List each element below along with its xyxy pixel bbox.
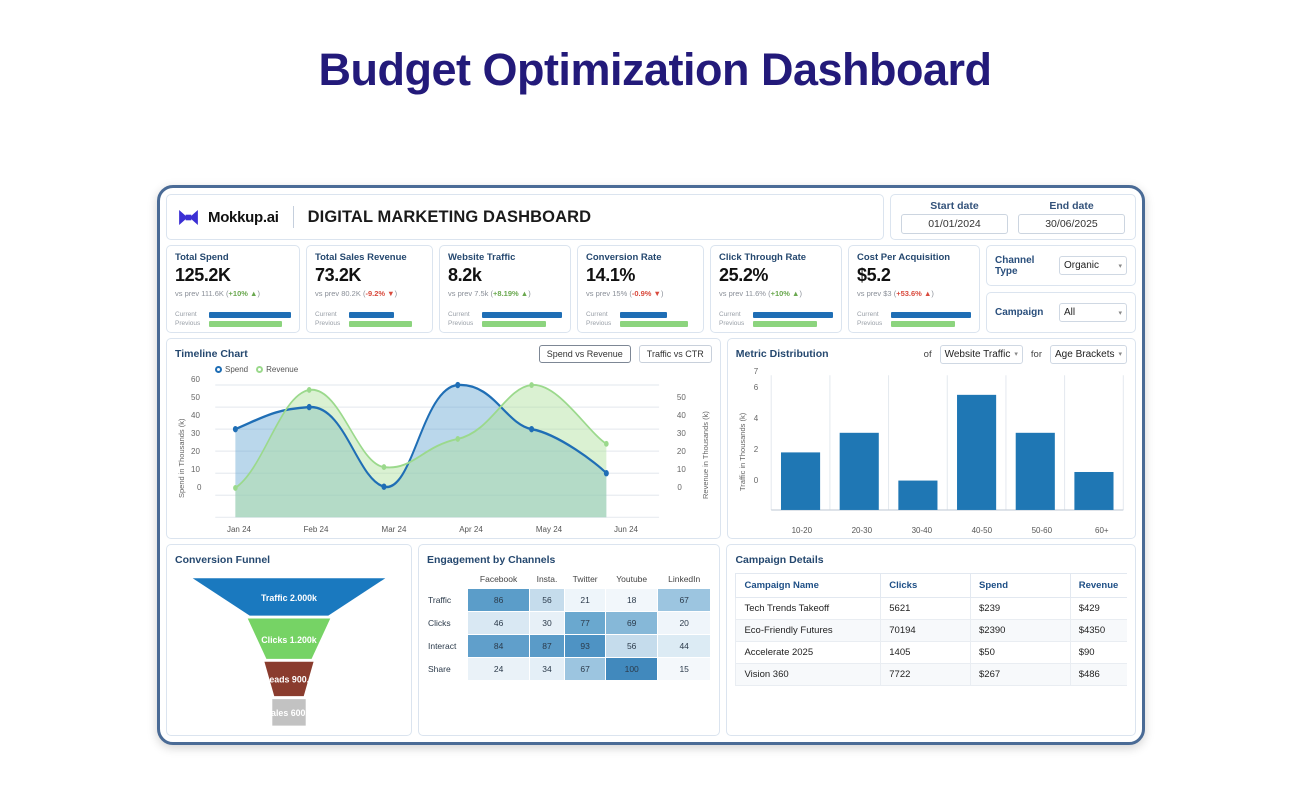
middle-row: Timeline Chart Spend vs Revenue Traffic …	[166, 338, 1136, 539]
heatmap-cell: 100	[606, 658, 657, 681]
engagement-heatmap-title: Engagement by Channels	[427, 554, 555, 566]
heatmap-cell: 67	[657, 589, 711, 612]
dimension-select[interactable]: Age Brackets ▾	[1050, 345, 1127, 364]
funnel-label-clicks: Clicks 1.200k	[261, 635, 317, 645]
heatmap-col-insta: Insta.	[530, 572, 565, 589]
conversion-funnel-panel: Conversion Funnel Traffic 2.000k Clicks …	[166, 544, 412, 736]
table-row[interactable]: Vision 360 7722 $267 $486	[736, 664, 1127, 686]
heatmap-corner	[427, 572, 467, 589]
campaign-table-scroll[interactable]: Campaign Name Clicks Spend Revenue Tech …	[735, 573, 1127, 729]
heatmap-cell: 18	[606, 589, 657, 612]
cell-revenue: $486	[1070, 664, 1127, 686]
column-campaign-name[interactable]: Campaign Name	[736, 574, 881, 598]
cell-revenue: $4350	[1070, 620, 1127, 642]
kpi-prev-text: vs prev 80.2K	[315, 289, 361, 298]
timeline-chart-panel: Timeline Chart Spend vs Revenue Traffic …	[166, 338, 721, 539]
campaign-details-title: Campaign Details	[735, 554, 823, 566]
campaign-select[interactable]: All ▾	[1059, 303, 1127, 322]
kpi-comparison: vs prev 15% (-0.9% ▼)	[586, 289, 695, 298]
y-tick: 50	[191, 393, 200, 402]
kpi-comparison: vs prev 7.5k (+8.19% ▲)	[448, 289, 562, 298]
kpi-current-label: Current	[448, 311, 478, 318]
heatmap-cell: 84	[467, 635, 529, 658]
kpi-prev-text: vs prev 111.6K	[175, 289, 224, 298]
kpi-card-total-spend: Total Spend 125.2K vs prev 111.6K (+10% …	[166, 245, 300, 333]
kpi-comparison: vs prev 80.2K (-9.2% ▼)	[315, 289, 424, 298]
filter-campaign: Campaign All ▾	[986, 292, 1136, 333]
y-tick: 0	[197, 483, 201, 492]
metric-distribution-title: Metric Distribution	[736, 348, 829, 360]
kpi-previous-bar	[620, 321, 688, 327]
x-tick: 50-60	[1022, 526, 1062, 535]
kpi-bars: Current Previous	[315, 309, 424, 327]
bottom-row: Conversion Funnel Traffic 2.000k Clicks …	[166, 544, 1136, 736]
y2-tick: 20	[677, 447, 686, 456]
start-date-field: Start date 01/01/2024	[901, 200, 1008, 234]
chevron-down-icon: ▾	[1118, 262, 1122, 270]
x-tick: 20-30	[842, 526, 882, 535]
cell-clicks: 5621	[881, 598, 971, 620]
filter-label: Channel Type	[995, 255, 1053, 277]
conversion-funnel-title: Conversion Funnel	[175, 554, 270, 566]
metric-distribution-panel: Metric Distribution of Website Traffic ▾…	[727, 338, 1136, 539]
page-title: Budget Optimization Dashboard	[0, 44, 1310, 96]
timeline-chart-title: Timeline Chart	[175, 348, 248, 360]
metric-select-value: Website Traffic	[945, 349, 1011, 360]
heatmap-row-label: Interact	[427, 635, 467, 658]
toggle-traffic-vs-ctr[interactable]: Traffic vs CTR	[639, 345, 712, 363]
kpi-current-label: Current	[315, 311, 345, 318]
table-row[interactable]: Eco-Friendly Futures 70194 $2390 $4350	[736, 620, 1127, 642]
dashboard-header: Mokkup.ai DIGITAL MARKETING DASHBOARD St…	[166, 194, 1136, 240]
kpi-value: $5.2	[857, 265, 971, 286]
heatmap-cell: 34	[530, 658, 565, 681]
kpi-comparison: vs prev 111.6K (+10% ▲)	[175, 289, 291, 298]
timeline-chart-area: Spend Revenue Spend in Thousands (k) Rev…	[175, 363, 712, 532]
y2-tick: 30	[677, 429, 686, 438]
kpi-prev-text: vs prev 11.6%	[719, 289, 766, 298]
x-tick: Jun 24	[602, 525, 650, 534]
heatmap-cell: 56	[606, 635, 657, 658]
heatmap-col-facebook: Facebook	[467, 572, 529, 589]
dashboard-frame: Mokkup.ai DIGITAL MARKETING DASHBOARD St…	[157, 185, 1145, 745]
kpi-current-label: Current	[586, 311, 616, 318]
heatmap-cell: 44	[657, 635, 711, 658]
cell-spend: $267	[971, 664, 1071, 686]
kpi-delta: -9.2%	[365, 289, 385, 298]
heatmap-row: Share 24 34 67 100 15	[427, 658, 710, 681]
x-tick: May 24	[525, 525, 573, 534]
y-tick: 4	[754, 414, 758, 423]
x-tick: 10-20	[782, 526, 822, 535]
x-tick: Jan 24	[215, 525, 263, 534]
kpi-previous-label: Previous	[857, 320, 887, 327]
brand-name: Mokkup.ai	[208, 209, 279, 226]
kpi-current-label: Current	[857, 311, 887, 318]
cell-clicks: 1405	[881, 642, 971, 664]
heatmap-row: Clicks 46 30 77 69 20	[427, 612, 710, 635]
kpi-bars: Current Previous	[448, 309, 562, 327]
heatmap-cell: 86	[467, 589, 529, 612]
heatmap-col-twitter: Twitter	[564, 572, 606, 589]
kpi-previous-bar	[753, 321, 817, 327]
y2-tick: 40	[677, 411, 686, 420]
kpi-current-bar	[482, 312, 562, 318]
kpi-previous-label: Previous	[586, 320, 616, 327]
kpi-current-bar	[620, 312, 667, 318]
kpi-previous-bar	[482, 321, 546, 327]
cell-campaign-name: Eco-Friendly Futures	[736, 620, 881, 642]
cell-spend: $239	[971, 598, 1071, 620]
heatmap-cell: 77	[564, 612, 606, 635]
y-tick: 30	[191, 429, 200, 438]
dashboard-title: DIGITAL MARKETING DASHBOARD	[308, 208, 592, 227]
chevron-down-icon: ▾	[1118, 309, 1122, 317]
kpi-delta: +53.6%	[896, 289, 922, 298]
cell-campaign-name: Accelerate 2025	[736, 642, 881, 664]
engagement-heatmap-table: Facebook Insta. Twitter Youtube LinkedIn…	[427, 572, 711, 681]
filter-channel-type: Channel Type Organic ▾	[986, 245, 1136, 286]
metric-distribution-svg	[736, 363, 1127, 532]
engagement-heatmap-panel: Engagement by Channels Facebook Insta. T…	[418, 544, 720, 736]
kpi-card-conversion-rate: Conversion Rate 14.1% vs prev 15% (-0.9%…	[577, 245, 704, 333]
heatmap-cell: 69	[606, 612, 657, 635]
y-tick: 60	[191, 375, 200, 384]
heatmap-cell: 67	[564, 658, 606, 681]
toggle-spend-vs-revenue[interactable]: Spend vs Revenue	[539, 345, 631, 363]
kpi-title: Total Sales Revenue	[315, 252, 424, 263]
column-spend[interactable]: Spend	[971, 574, 1071, 598]
timeline-svg	[175, 363, 712, 532]
kpi-previous-label: Previous	[448, 320, 478, 327]
funnel-svg: Traffic 2.000k Clicks 1.200k Leads 900.0…	[175, 571, 403, 729]
channel-type-select[interactable]: Organic ▾	[1059, 256, 1127, 275]
date-range-card: Start date 01/01/2024 End date 30/06/202…	[890, 194, 1136, 240]
header-divider	[293, 206, 294, 228]
metric-distribution-chart-area: Traffic in Thousands (k)	[736, 363, 1127, 532]
heatmap-col-youtube: Youtube	[606, 572, 657, 589]
heatmap-cell: 93	[564, 635, 606, 658]
heatmap-header-row: Facebook Insta. Twitter Youtube LinkedIn	[427, 572, 710, 589]
connector-of: of	[924, 349, 932, 360]
kpi-card-cost-per-acquisition: Cost Per Acquisition $5.2 vs prev $3 (+5…	[848, 245, 980, 333]
x-tick: 30-40	[902, 526, 942, 535]
cell-spend: $2390	[971, 620, 1071, 642]
y-tick: 40	[191, 411, 200, 420]
y2-tick: 50	[677, 393, 686, 402]
kpi-prev-text: vs prev 7.5k	[448, 289, 488, 298]
kpi-bars: Current Previous	[175, 309, 291, 327]
start-date-input[interactable]: 01/01/2024	[901, 214, 1008, 234]
x-tick: 40-50	[962, 526, 1002, 535]
kpi-value: 125.2K	[175, 265, 291, 286]
heatmap-cell: 30	[530, 612, 565, 635]
cell-campaign-name: Vision 360	[736, 664, 881, 686]
kpi-current-bar	[209, 312, 291, 318]
mokkup-logo-icon	[179, 210, 198, 225]
y-tick: 20	[191, 447, 200, 456]
heatmap-cell: 15	[657, 658, 711, 681]
kpi-bars: Current Previous	[586, 309, 695, 327]
kpi-card-website-traffic: Website Traffic 8.2k vs prev 7.5k (+8.19…	[439, 245, 571, 333]
y-tick: 6	[754, 383, 758, 392]
kpi-value: 73.2K	[315, 265, 424, 286]
kpi-current-label: Current	[719, 311, 749, 318]
campaign-details-table: Campaign Name Clicks Spend Revenue Tech …	[735, 573, 1127, 686]
table-row[interactable]: Tech Trends Takeoff 5621 $239 $429	[736, 598, 1127, 620]
kpi-comparison: vs prev 11.6% (+10% ▲)	[719, 289, 833, 298]
campaign-value: All	[1064, 307, 1075, 318]
dimension-select-value: Age Brackets	[1055, 349, 1114, 360]
heatmap-col-linkedin: LinkedIn	[657, 572, 711, 589]
cell-revenue: $90	[1070, 642, 1127, 664]
kpi-title: Website Traffic	[448, 252, 562, 263]
table-header-row: Campaign Name Clicks Spend Revenue	[736, 574, 1127, 598]
column-revenue[interactable]: Revenue	[1070, 574, 1127, 598]
heatmap-cell: 56	[530, 589, 565, 612]
kpi-card-total-sales-revenue: Total Sales Revenue 73.2K vs prev 80.2K …	[306, 245, 433, 333]
kpi-previous-bar	[209, 321, 282, 327]
cell-revenue: $429	[1070, 598, 1127, 620]
kpi-current-bar	[349, 312, 394, 318]
kpi-value: 14.1%	[586, 265, 695, 286]
title-card: Mokkup.ai DIGITAL MARKETING DASHBOARD	[166, 194, 884, 240]
filter-column: Channel Type Organic ▾ Campaign All ▾	[986, 245, 1136, 333]
funnel-area: Traffic 2.000k Clicks 1.200k Leads 900.0…	[175, 571, 403, 729]
heatmap-cell: 20	[657, 612, 711, 635]
kpi-current-label: Current	[175, 311, 205, 318]
kpi-bars: Current Previous	[719, 309, 833, 327]
heatmap-row-label: Clicks	[427, 612, 467, 635]
kpi-prev-text: vs prev $3	[857, 289, 892, 298]
kpi-value: 25.2%	[719, 265, 833, 286]
heatmap-cell: 21	[564, 589, 606, 612]
heatmap-row-label: Share	[427, 658, 467, 681]
kpi-delta: +10%	[771, 289, 790, 298]
kpi-row: Total Spend 125.2K vs prev 111.6K (+10% …	[166, 245, 1136, 333]
campaign-details-panel: Campaign Details Campaign Name Clicks Sp…	[726, 544, 1136, 736]
x-tick: 60+	[1082, 526, 1122, 535]
heatmap-cell: 46	[467, 612, 529, 635]
y2-tick: 10	[677, 465, 686, 474]
x-tick: Feb 24	[292, 525, 340, 534]
kpi-card-click-through-rate: Click Through Rate 25.2% vs prev 11.6% (…	[710, 245, 842, 333]
funnel-label-traffic: Traffic 2.000k	[261, 593, 317, 603]
x-tick: Mar 24	[370, 525, 418, 534]
x-tick: Apr 24	[447, 525, 495, 534]
kpi-comparison: vs prev $3 (+53.6% ▲)	[857, 289, 971, 298]
kpi-delta: -0.9%	[632, 289, 652, 298]
kpi-prev-text: vs prev 15%	[586, 289, 627, 298]
y-tick: 0	[754, 476, 758, 485]
y-tick: 10	[191, 465, 200, 474]
kpi-current-bar	[753, 312, 833, 318]
kpi-previous-label: Previous	[175, 320, 205, 327]
connector-for: for	[1031, 349, 1042, 360]
heatmap-row-label: Traffic	[427, 589, 467, 612]
kpi-delta: +8.19%	[493, 289, 519, 298]
kpi-title: Cost Per Acquisition	[857, 252, 971, 263]
kpi-previous-bar	[349, 321, 412, 327]
kpi-title: Conversion Rate	[586, 252, 695, 263]
y2-tick: 0	[677, 483, 681, 492]
kpi-previous-label: Previous	[719, 320, 749, 327]
chevron-down-icon: ▾	[1118, 350, 1122, 358]
kpi-previous-bar	[891, 321, 955, 327]
start-date-label: Start date	[901, 200, 1008, 212]
heatmap-row: Interact 84 87 93 56 44	[427, 635, 710, 658]
kpi-title: Click Through Rate	[719, 252, 833, 263]
kpi-title: Total Spend	[175, 252, 291, 263]
end-date-label: End date	[1018, 200, 1125, 212]
cell-spend: $50	[971, 642, 1071, 664]
heatmap-row: Traffic 86 56 21 18 67	[427, 589, 710, 612]
kpi-delta: +10%	[229, 289, 248, 298]
filter-label: Campaign	[995, 307, 1053, 318]
heatmap-cell: 24	[467, 658, 529, 681]
metric-select[interactable]: Website Traffic ▾	[940, 345, 1023, 364]
cell-clicks: 70194	[881, 620, 971, 642]
funnel-label-sales: Sales 600.0	[265, 708, 313, 718]
y-tick: 2	[754, 445, 758, 454]
y-tick: 7	[754, 367, 758, 376]
funnel-label-leads: Leads 900.0	[264, 674, 314, 684]
heatmap-cell: 87	[530, 635, 565, 658]
cell-clicks: 7722	[881, 664, 971, 686]
channel-type-value: Organic	[1064, 260, 1099, 271]
end-date-input[interactable]: 30/06/2025	[1018, 214, 1125, 234]
kpi-value: 8.2k	[448, 265, 562, 286]
chevron-down-icon: ▾	[1014, 350, 1018, 358]
end-date-field: End date 30/06/2025	[1018, 200, 1125, 234]
cell-campaign-name: Tech Trends Takeoff	[736, 598, 881, 620]
kpi-current-bar	[891, 312, 971, 318]
column-clicks[interactable]: Clicks	[881, 574, 971, 598]
table-row[interactable]: Accelerate 2025 1405 $50 $90	[736, 642, 1127, 664]
kpi-previous-label: Previous	[315, 320, 345, 327]
kpi-bars: Current Previous	[857, 309, 971, 327]
